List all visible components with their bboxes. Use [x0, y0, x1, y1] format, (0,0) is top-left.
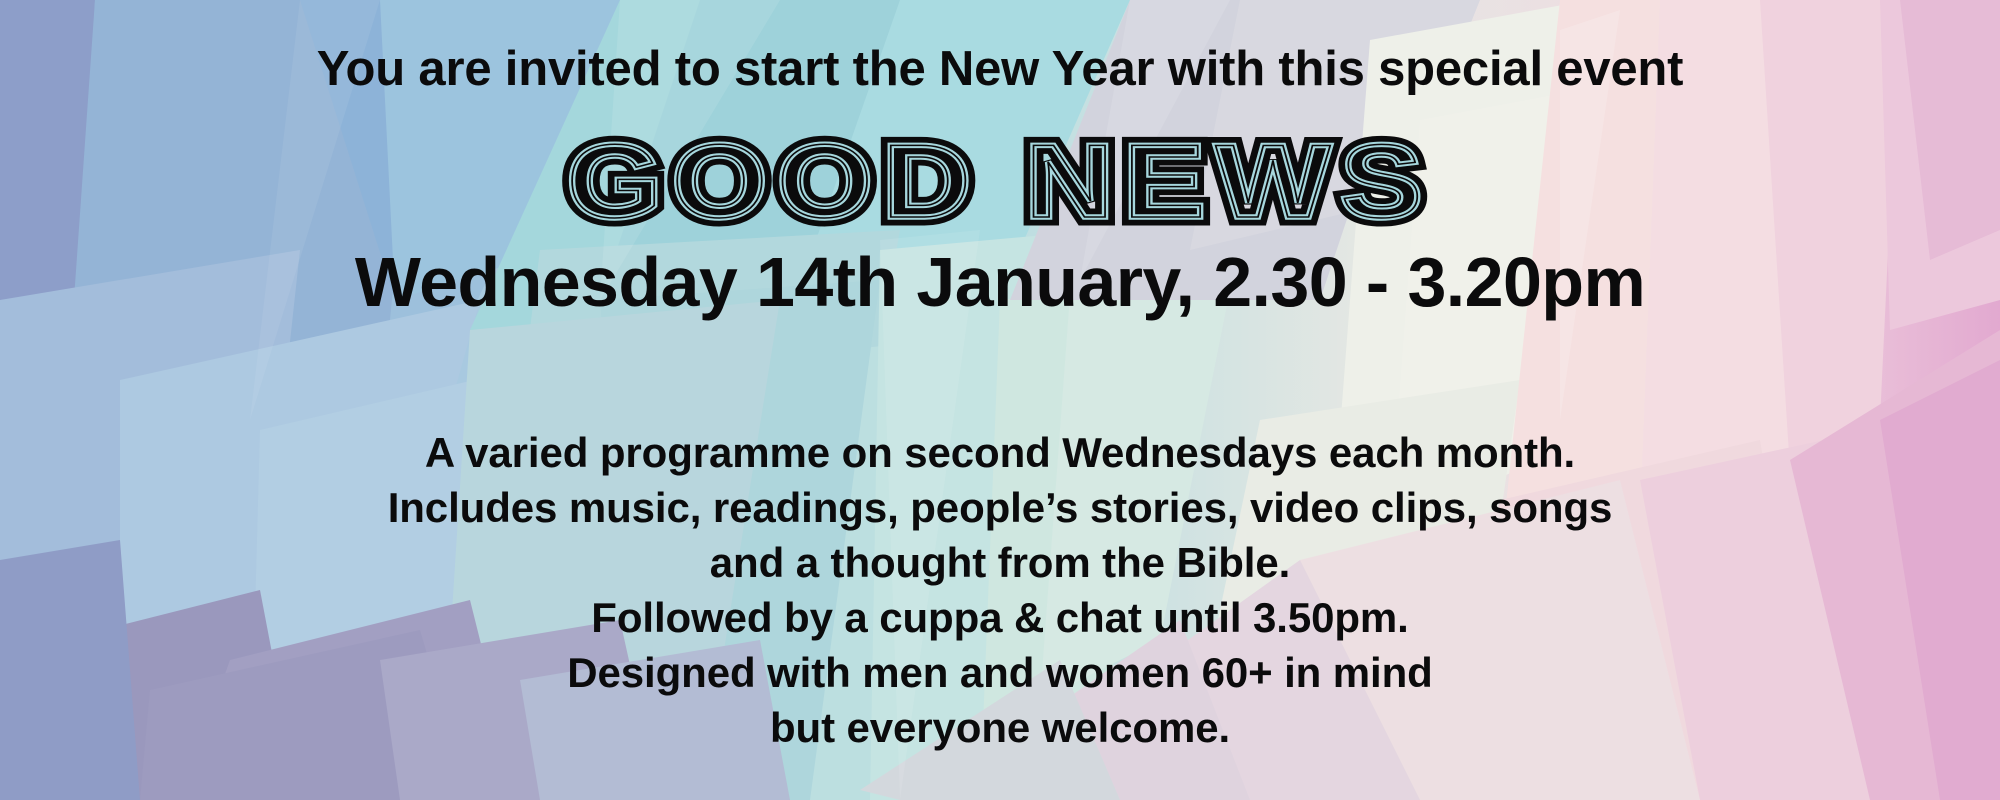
description-line: Followed by a cuppa & chat until 3.50pm.: [0, 590, 2000, 645]
description-line: Includes music, readings, people’s stori…: [0, 480, 2000, 535]
banner-content: You are invited to start the New Year wi…: [0, 0, 2000, 800]
event-description: A varied programme on second Wednesdays …: [0, 425, 2000, 755]
description-line: A varied programme on second Wednesdays …: [0, 425, 2000, 480]
event-title-stack: GOOD NEWS GOOD NEWS GOOD NEWS: [630, 130, 1370, 234]
event-title: GOOD NEWS GOOD NEWS GOOD NEWS: [0, 130, 2000, 240]
description-line: Designed with men and women 60+ in mind: [0, 645, 2000, 700]
invitation-headline: You are invited to start the New Year wi…: [0, 42, 2000, 97]
event-banner: You are invited to start the New Year wi…: [0, 0, 2000, 800]
event-datetime: Wednesday 14th January, 2.30 - 3.20pm: [0, 244, 2000, 321]
event-title-core: GOOD NEWS: [567, 130, 1432, 234]
description-line: but everyone welcome.: [0, 700, 2000, 755]
description-line: and a thought from the Bible.: [0, 535, 2000, 590]
